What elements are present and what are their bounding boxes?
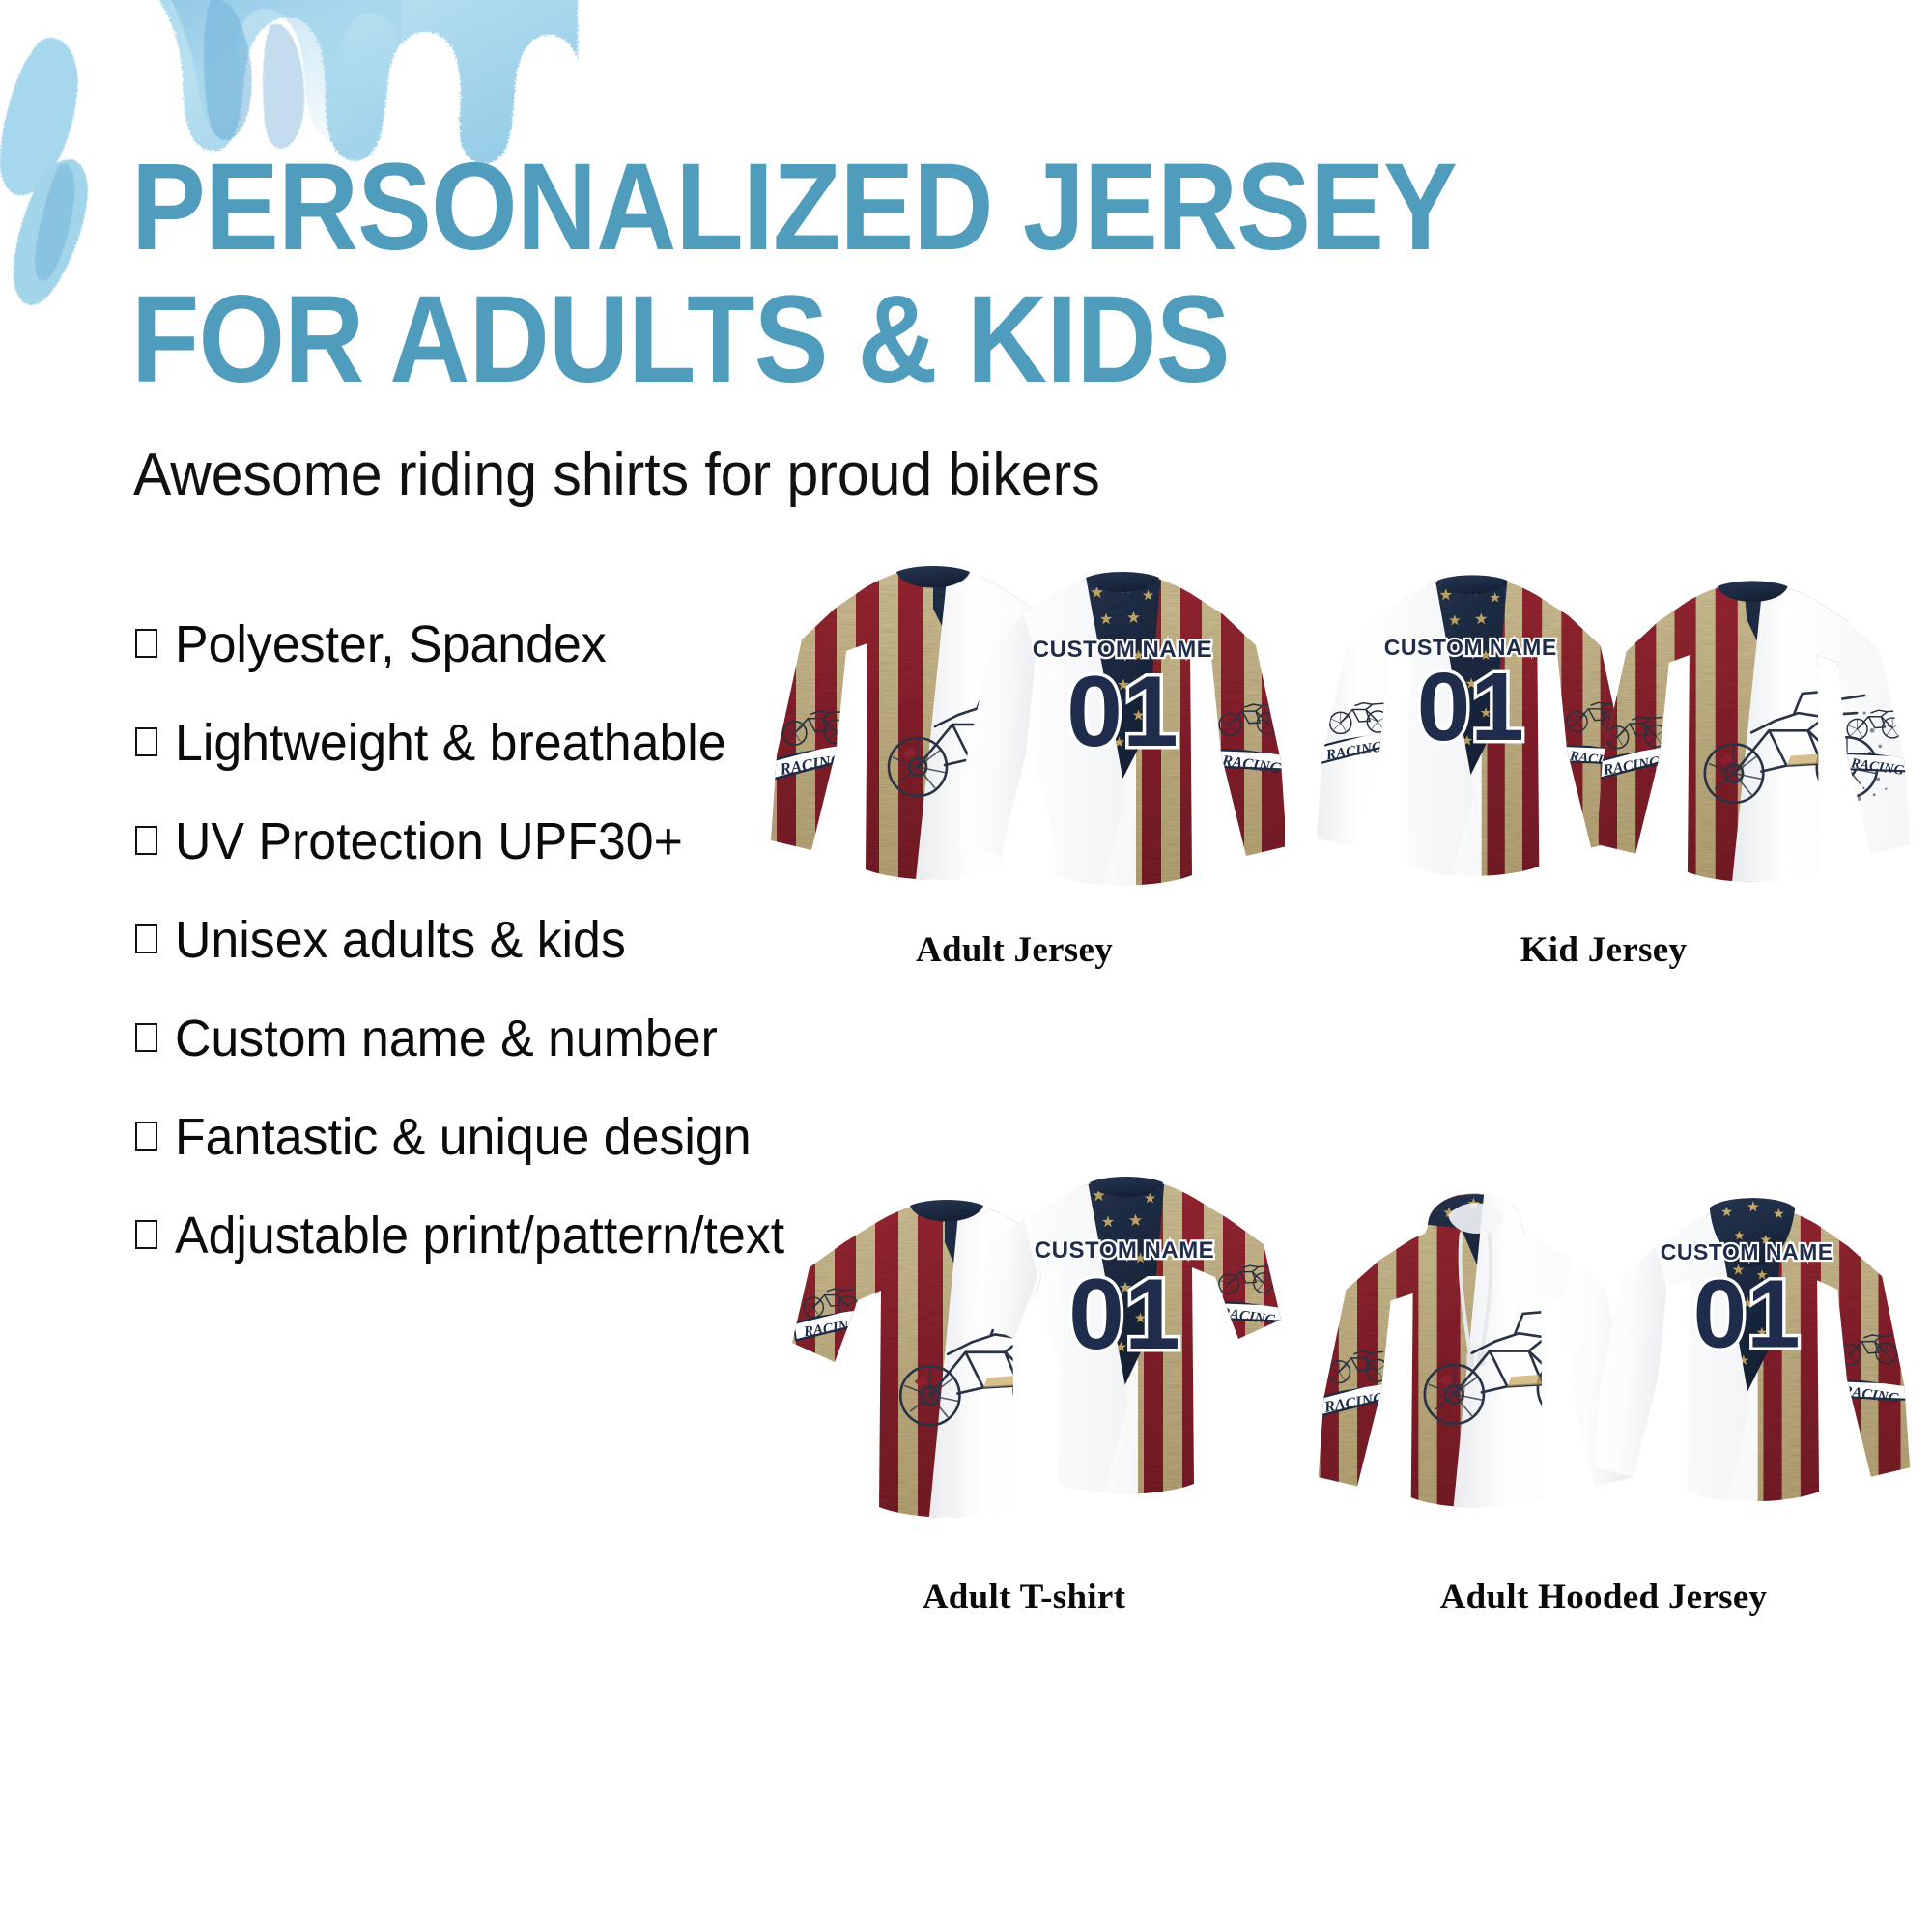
empty-square-box-icon (135, 1220, 157, 1249)
splash-drip-left-2 (14, 159, 88, 305)
adult-hooded-jersey-image[interactable]: RACING (1285, 1130, 1922, 1565)
empty-square-box-icon (135, 629, 157, 658)
empty-square-box-icon (135, 727, 157, 756)
feature-item: UV Protection UPF30+ (135, 815, 792, 867)
hooded-jersey-back-view: CUSTOM NAME 01 RACING (1581, 1175, 1922, 1518)
empty-square-box-icon (135, 826, 157, 855)
feature-label: Fantastic & unique design (175, 1111, 752, 1163)
product-label: Adult Jersey (744, 929, 1285, 971)
feature-label: Unisex adults & kids (175, 914, 626, 966)
feature-label: Lightweight & breathable (175, 717, 726, 769)
feature-list: Polyester, Spandex Lightweight & breatha… (135, 618, 792, 1308)
empty-square-box-icon (135, 924, 157, 953)
product-adult-hooded-jersey[interactable]: RACING (1285, 1130, 1922, 1613)
kid-jersey-image[interactable]: CUSTOM NAME 01 RACING RACING (1285, 551, 1922, 927)
feature-label: Custom name & number (175, 1012, 718, 1065)
custom-number-text: 01 (1693, 1261, 1801, 1368)
product-label: Kid Jersey (1285, 929, 1922, 971)
product-gallery: RACING (744, 551, 1932, 1690)
feature-label: Adjustable print/pattern/text (175, 1209, 784, 1262)
feature-label: Polyester, Spandex (175, 618, 607, 670)
hooded-jersey-front-view: RACING (1312, 1180, 1646, 1523)
feature-item: Unisex adults & kids (135, 914, 792, 966)
headline-line-2: FOR ADULTS & KIDS (131, 279, 1288, 400)
custom-number-text: 01 (1417, 654, 1524, 761)
kid-jersey-front-view: RACING RACING (1590, 576, 1922, 900)
kid-jersey-back-view: CUSTOM NAME 01 RACING RACING (1307, 570, 1643, 895)
subtitle: Awesome riding shirts for proud bikers (133, 440, 1100, 509)
feature-item: Lightweight & breathable (135, 717, 792, 769)
feature-item: Custom name & number (135, 1012, 792, 1065)
product-adult-jersey[interactable]: RACING (744, 551, 1285, 1034)
splash-dark-streaks (116, 0, 402, 149)
product-adult-tshirt[interactable]: RACING (753, 1130, 1294, 1613)
feature-item: Polyester, Spandex (135, 618, 792, 670)
headline-line-1: PERSONALIZED JERSEY (131, 147, 1288, 268)
product-label: Adult T-shirt (753, 1577, 1294, 1618)
empty-square-box-icon (135, 1023, 157, 1052)
product-label: Adult Hooded Jersey (1285, 1577, 1922, 1618)
adult-tshirt-image[interactable]: RACING (753, 1130, 1294, 1565)
adult-jersey-image[interactable]: RACING (744, 551, 1285, 927)
empty-square-box-icon (135, 1122, 157, 1151)
splash-drip-left-1 (0, 38, 78, 195)
feature-label: UV Protection UPF30+ (175, 815, 683, 867)
custom-number-text: 01 (1068, 1259, 1180, 1371)
custom-number-text: 01 (1066, 656, 1179, 768)
headline: PERSONALIZED JERSEY FOR ADULTS & KIDS (131, 147, 1416, 412)
feature-item: Adjustable print/pattern/text (135, 1209, 792, 1262)
product-kid-jersey[interactable]: CUSTOM NAME 01 RACING RACING (1285, 551, 1922, 1034)
feature-item: Fantastic & unique design (135, 1111, 792, 1163)
